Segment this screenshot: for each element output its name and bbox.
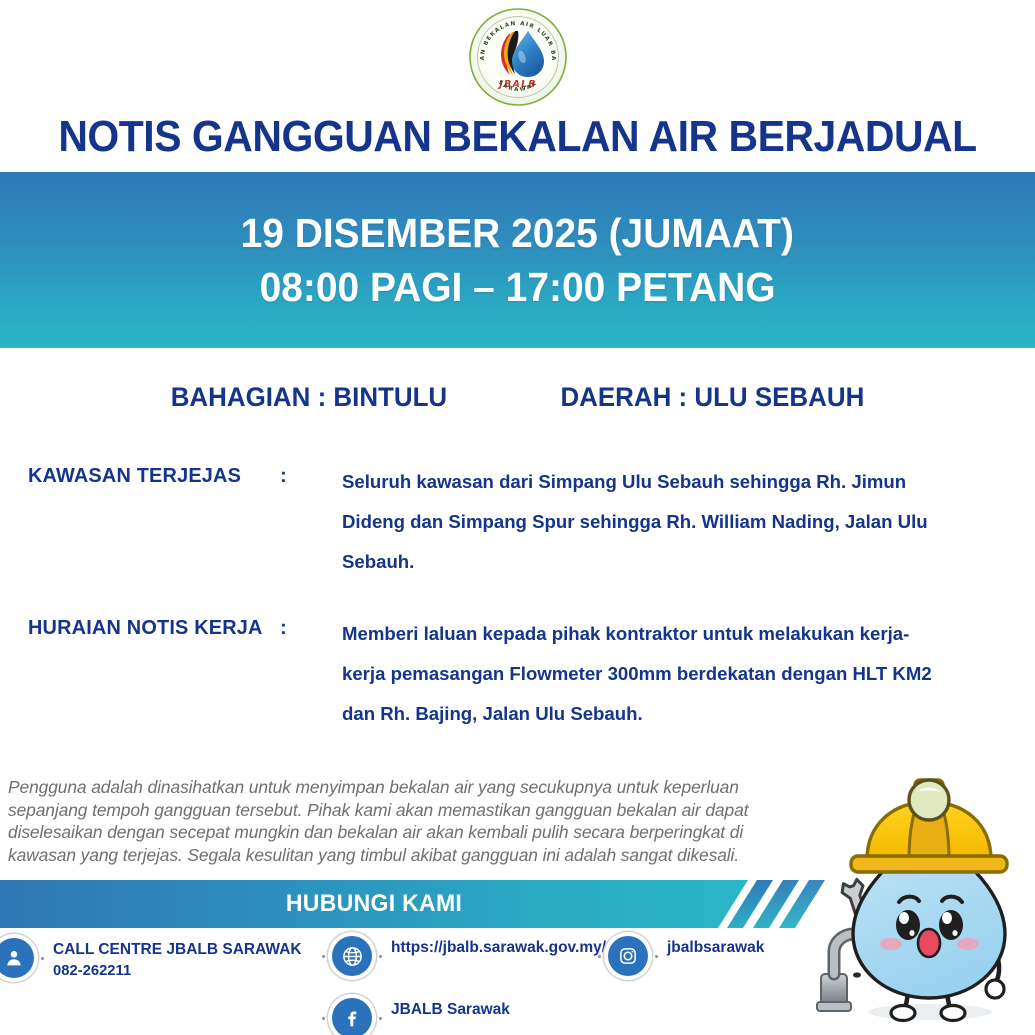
contact-instagram[interactable]: jbalbsarawak	[608, 936, 764, 976]
contact-call-centre[interactable]: CALL CENTRE JBALB SARAWAK 082-262211	[0, 938, 302, 983]
detail-row-huraian-notis-kerja: HURAIAN NOTIS KERJA : Memberi laluan kep…	[28, 614, 1003, 734]
instagram-handle[interactable]: jbalbsarawak	[667, 936, 764, 959]
detail-label: KAWASAN TERJEJAS	[28, 462, 272, 488]
contacts-row: CALL CENTRE JBALB SARAWAK 082-262211 htt…	[0, 936, 830, 1035]
detail-row-kawasan-terjejas: KAWASAN TERJEJAS : Seluruh kawasan dari …	[28, 462, 1003, 582]
globe-icon	[332, 936, 372, 976]
contact-banner: HUBUNGI KAMI	[0, 880, 778, 928]
division-district-row: BAHAGIAN : BINTULU DAERAH : ULU SEBAUH	[21, 382, 1015, 413]
water-droplet-mascot	[805, 762, 1035, 1035]
detail-colon: :	[280, 462, 342, 488]
person-icon	[0, 938, 34, 978]
call-centre-phone: 082-262211	[53, 961, 302, 982]
notice-time: 08:00 PAGI – 17:00 PETANG	[260, 260, 776, 314]
call-centre-text: CALL CENTRE JBALB SARAWAK 082-262211	[53, 938, 302, 983]
bahagian-label: BAHAGIAN : BINTULU	[171, 382, 447, 413]
contact-banner-label: HUBUNGI KAMI	[15, 880, 733, 928]
jbalb-logo: JBALB JABATAN BEKALAN AIR LUAR BANDAR SA…	[468, 7, 568, 107]
logo-container: JBALB JABATAN BEKALAN AIR LUAR BANDAR SA…	[0, 4, 1035, 110]
notice-poster: JBALB JABATAN BEKALAN AIR LUAR BANDAR SA…	[0, 0, 1035, 1035]
facebook-icon	[332, 998, 372, 1035]
daerah-label: DAERAH : ULU SEBAUH	[560, 382, 864, 413]
page-title: NOTIS GANGGUAN BEKALAN AIR BERJADUAL	[36, 112, 999, 162]
date-time-banner: 19 DISEMBER 2025 (JUMAAT) 08:00 PAGI – 1…	[0, 172, 1035, 348]
call-centre-name: CALL CENTRE JBALB SARAWAK	[53, 939, 302, 961]
website-url[interactable]: https://jbalb.sarawak.gov.my/	[391, 936, 606, 959]
detail-colon: :	[280, 614, 342, 640]
instagram-icon	[608, 936, 648, 976]
contact-website[interactable]: https://jbalb.sarawak.gov.my/	[332, 936, 606, 976]
hard-hat-icon	[851, 780, 1007, 872]
detail-value: Memberi laluan kepada pihak kontraktor u…	[342, 614, 942, 734]
facebook-handle[interactable]: JBALB Sarawak	[391, 998, 510, 1021]
detail-value: Seluruh kawasan dari Simpang Ulu Sebauh …	[342, 462, 942, 582]
advisory-text: Pengguna adalah dinasihatkan untuk menyi…	[8, 776, 778, 867]
notice-date: 19 DISEMBER 2025 (JUMAAT)	[241, 206, 794, 260]
detail-label: HURAIAN NOTIS KERJA	[28, 614, 272, 640]
contact-facebook[interactable]: JBALB Sarawak	[332, 998, 510, 1035]
